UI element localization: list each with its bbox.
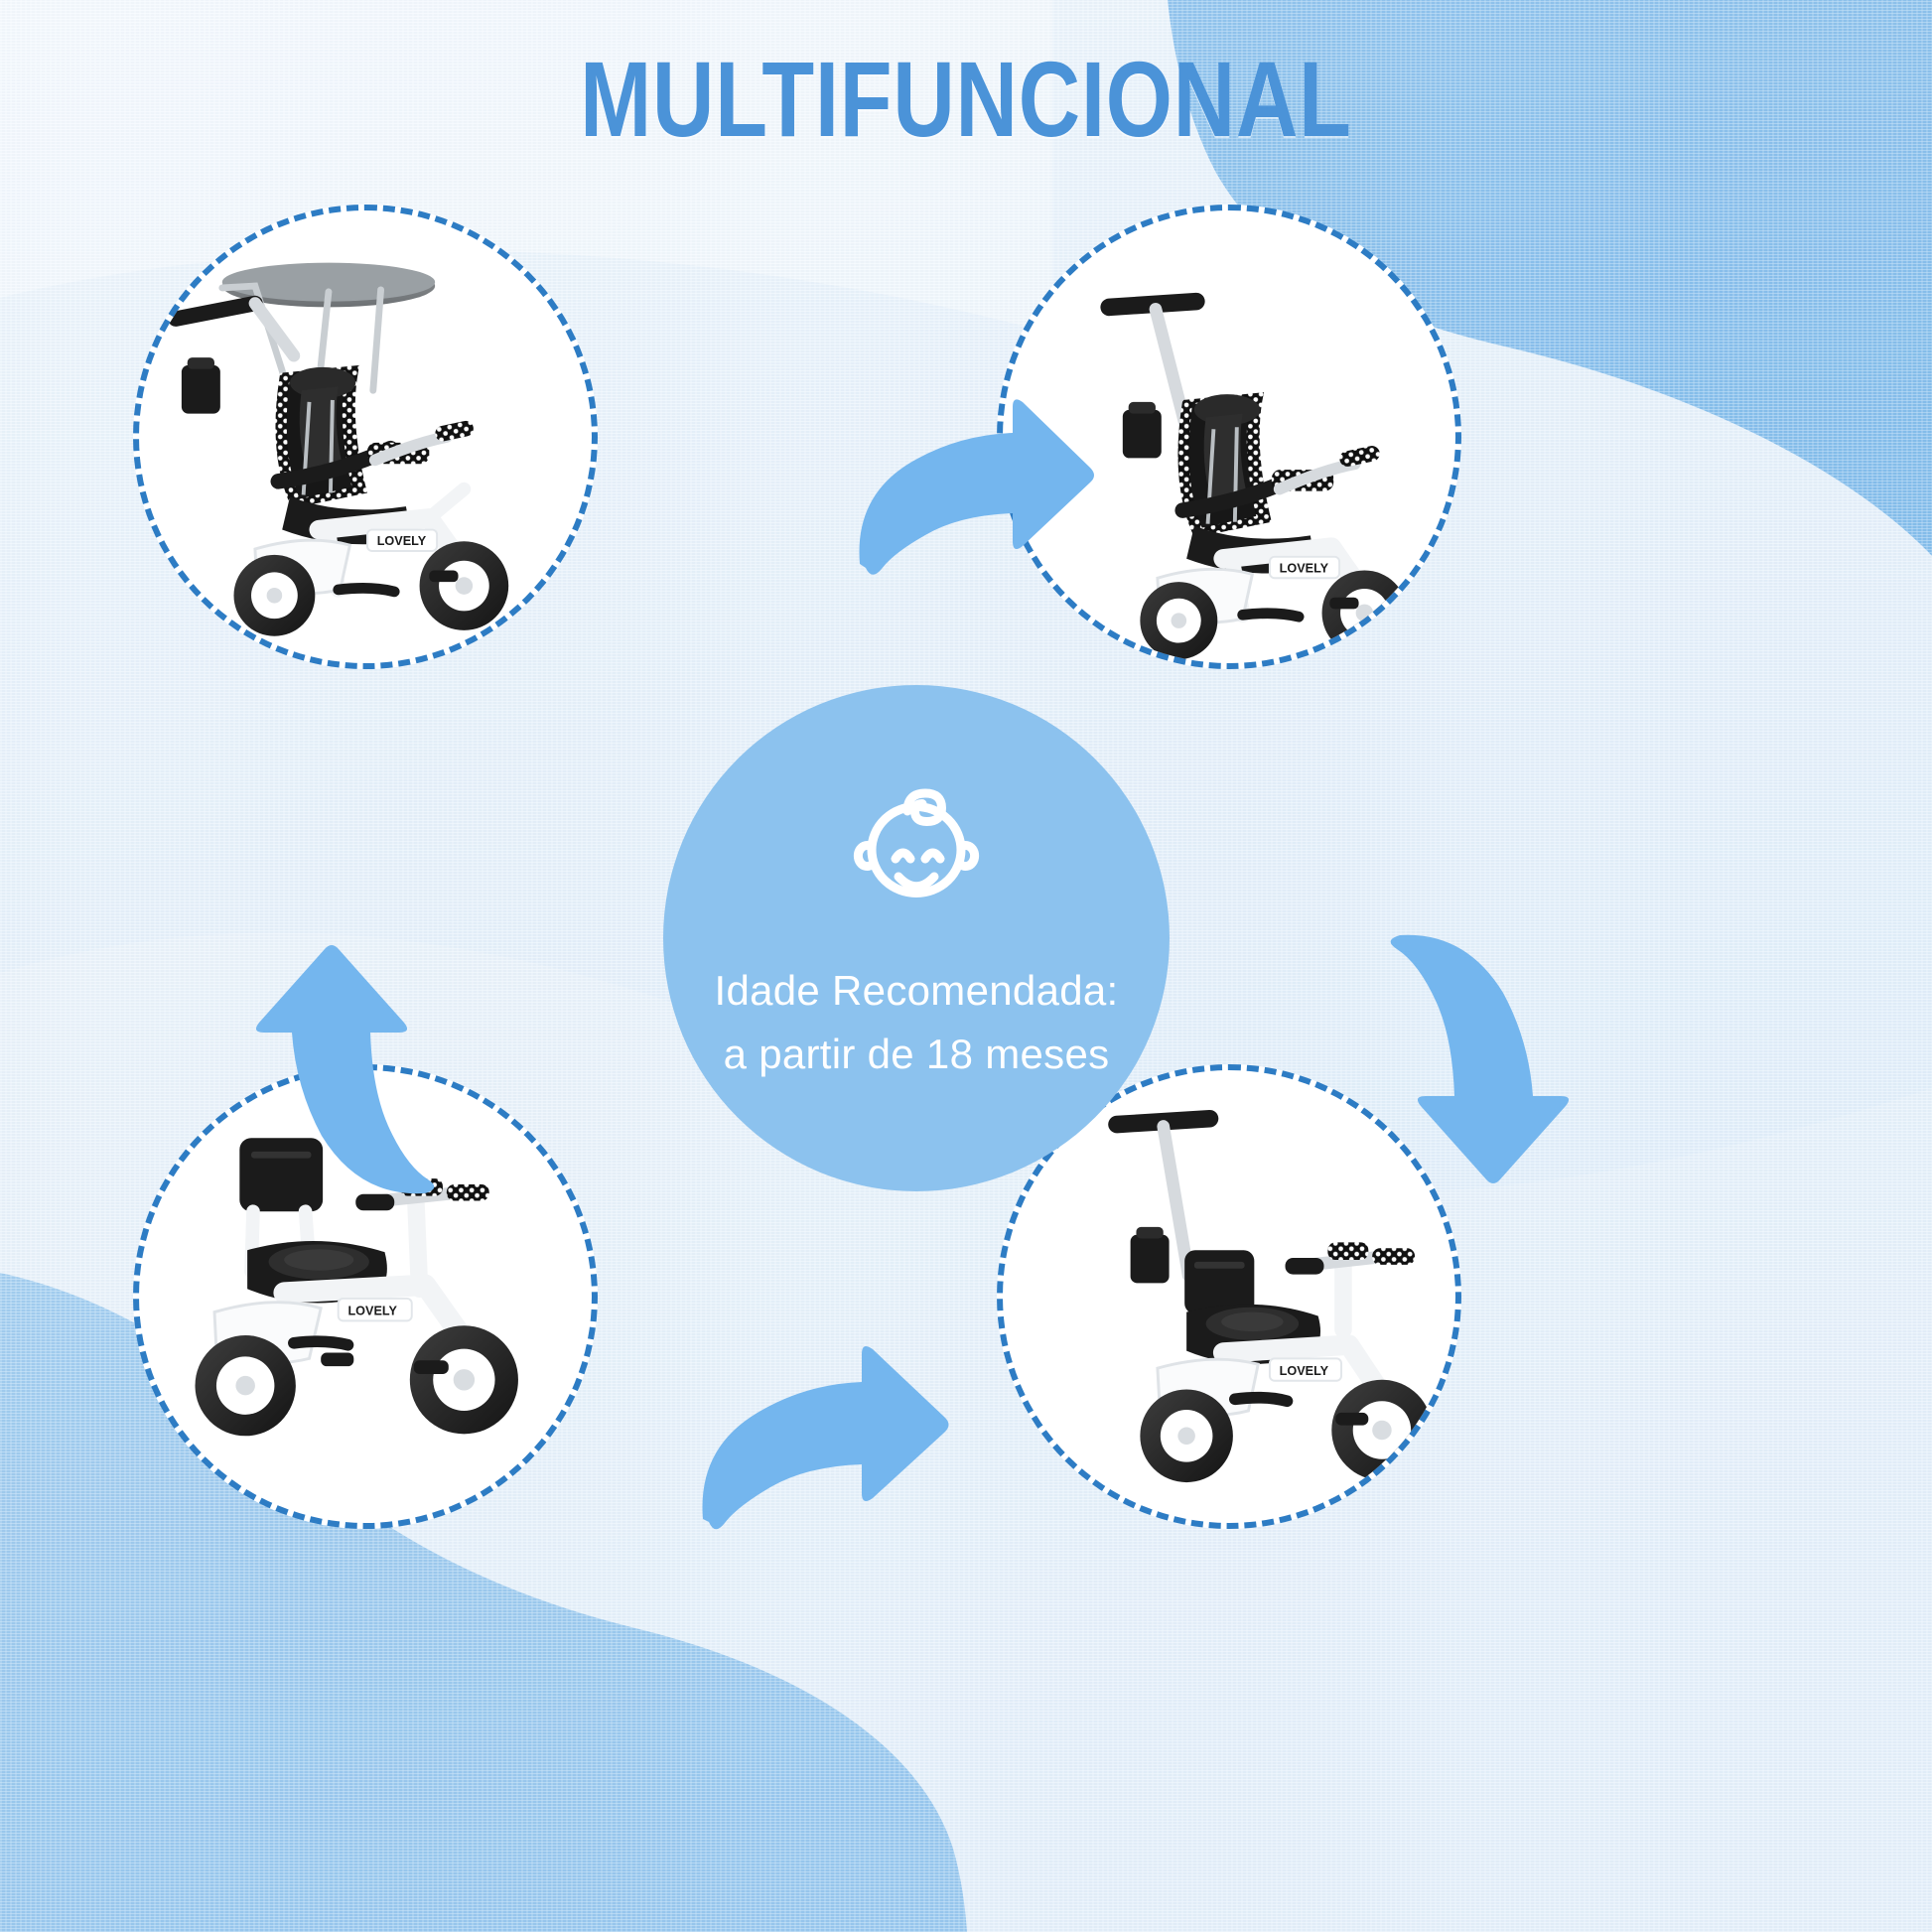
arrow-bottom-left-icon [695, 1338, 961, 1537]
arrow-right-down-icon [1376, 927, 1575, 1191]
recommended-age-line2: a partir de 18 meses [714, 1023, 1118, 1086]
recommended-age-hub: Idade Recomendada: a partir de 18 meses [663, 685, 1170, 1191]
arrow-left-up-icon [250, 937, 449, 1201]
baby-face-icon [842, 772, 991, 921]
svg-text:LOVELY: LOVELY [377, 534, 427, 548]
svg-text:LOVELY: LOVELY [1280, 561, 1329, 575]
arrow-top-right-icon [852, 393, 1100, 582]
svg-text:LOVELY: LOVELY [1280, 1364, 1329, 1378]
svg-text:LOVELY: LOVELY [347, 1305, 397, 1318]
page-title: MULTIFUNCIONAL [194, 46, 1739, 153]
recommended-age-text: Idade Recomendada: a partir de 18 meses [714, 959, 1118, 1086]
product-photo-stroller-canopy: LOVELY [139, 210, 592, 663]
recommended-age-line1: Idade Recomendada: [714, 959, 1118, 1023]
product-circle-mode-stroller-canopy[interactable]: LOVELY [133, 205, 598, 669]
